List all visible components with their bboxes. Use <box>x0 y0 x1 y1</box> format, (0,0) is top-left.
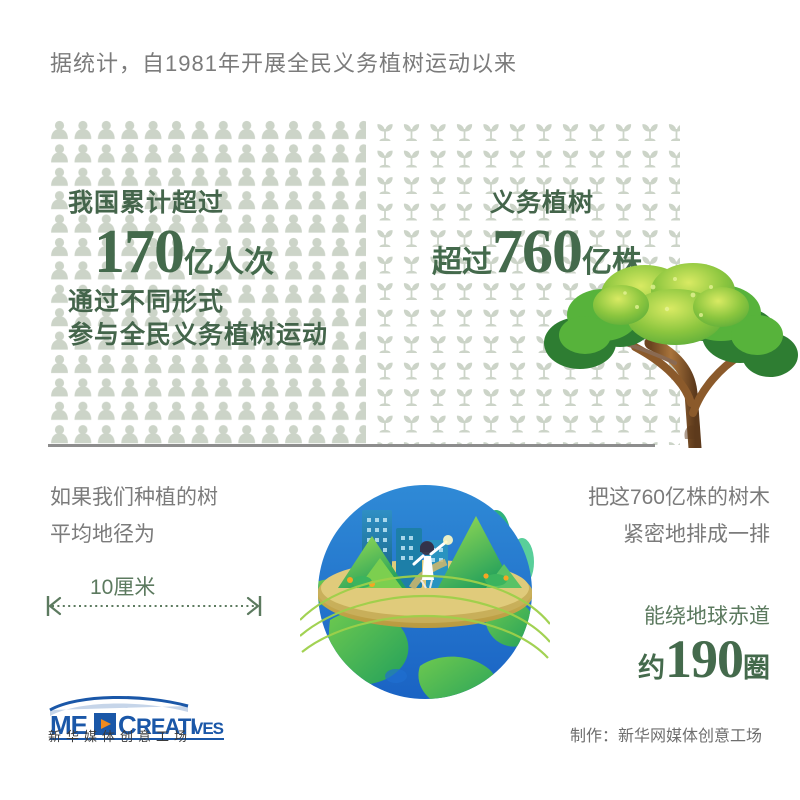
stat-right-prefix: 超过 <box>432 246 492 279</box>
lower-right-line-2: 紧密地排成一排 <box>520 517 770 554</box>
loops-unit: 圈 <box>743 653 770 683</box>
stat-right-title: 义务植树 <box>399 188 685 219</box>
credit-text: 制作：新华网媒体创意工场 <box>570 722 762 746</box>
loops-number: 190 <box>665 629 743 689</box>
measure-arrow-icon <box>44 595 264 617</box>
stat-block-participants: 我国累计超过 170亿人次 通过不同形式 参与全民义务植树运动 <box>68 188 368 352</box>
lower-left-line-2: 平均地径为 <box>50 517 218 554</box>
loops-value: 约190圈 <box>470 632 770 686</box>
stat-left-value: 170亿人次 <box>94 221 368 283</box>
lower-left-text: 如果我们种植的树 平均地径为 <box>50 480 218 554</box>
lower-right-line-1: 把这760亿株的树木 <box>520 480 770 517</box>
stat-left-number: 170 <box>94 218 184 286</box>
section-divider <box>48 444 655 447</box>
lower-left-line-1: 如果我们种植的树 <box>50 480 218 517</box>
stat-left-note-2: 参与全民义务植树运动 <box>68 320 368 353</box>
stat-left-unit: 亿人次 <box>184 246 274 279</box>
stat-left-note-1: 通过不同形式 <box>68 287 368 320</box>
lower-right-text: 把这760亿株的树木 紧密地排成一排 <box>520 480 770 554</box>
tree-illustration <box>525 243 800 448</box>
stat-left-title: 我国累计超过 <box>68 188 368 219</box>
equator-text: 能绕地球赤道 <box>470 600 770 630</box>
loops-prefix: 约 <box>638 653 665 683</box>
infographic-canvas: 据统计，自1981年开展全民义务植树运动以来 <box>0 0 800 800</box>
page-title: 据统计，自1981年开展全民义务植树运动以来 <box>50 46 517 78</box>
logo-chinese-name: 新华媒体创意工场 <box>48 726 198 745</box>
